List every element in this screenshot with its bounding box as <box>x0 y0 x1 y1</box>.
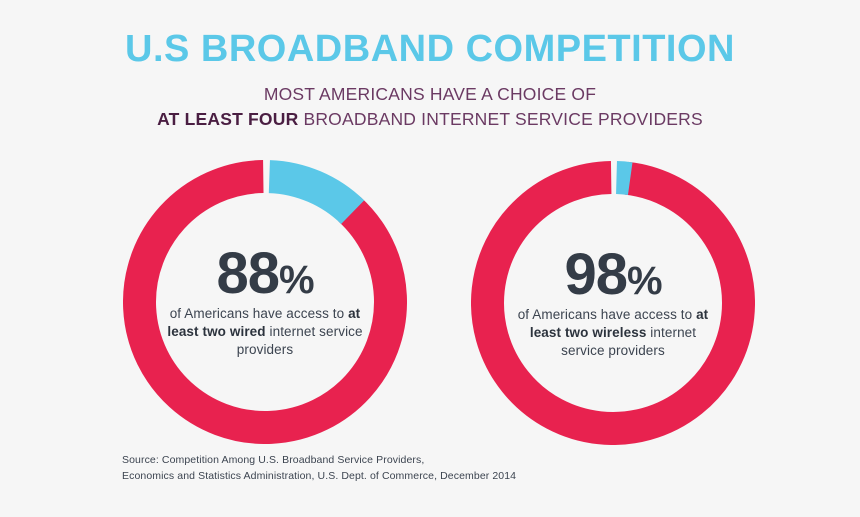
donut-wired-segment-has-access <box>123 160 407 444</box>
donut-wired-svg <box>123 160 407 444</box>
charts-container: 88% of Americans have access to at least… <box>0 0 860 517</box>
source-citation: Source: Competition Among U.S. Broadband… <box>122 452 516 485</box>
donut-wireless-segment-has-access <box>475 165 752 442</box>
donut-chart-wired: 88% of Americans have access to at least… <box>123 160 407 444</box>
infographic-root: U.S BROADBAND COMPETITION MOST AMERICANS… <box>0 0 860 517</box>
donut-chart-wireless: 98% of Americans have access to at least… <box>471 161 755 445</box>
source-line-2: Economics and Statistics Administration,… <box>122 468 516 484</box>
donut-wireless-svg <box>471 161 755 445</box>
source-line-1: Source: Competition Among U.S. Broadband… <box>122 452 516 468</box>
